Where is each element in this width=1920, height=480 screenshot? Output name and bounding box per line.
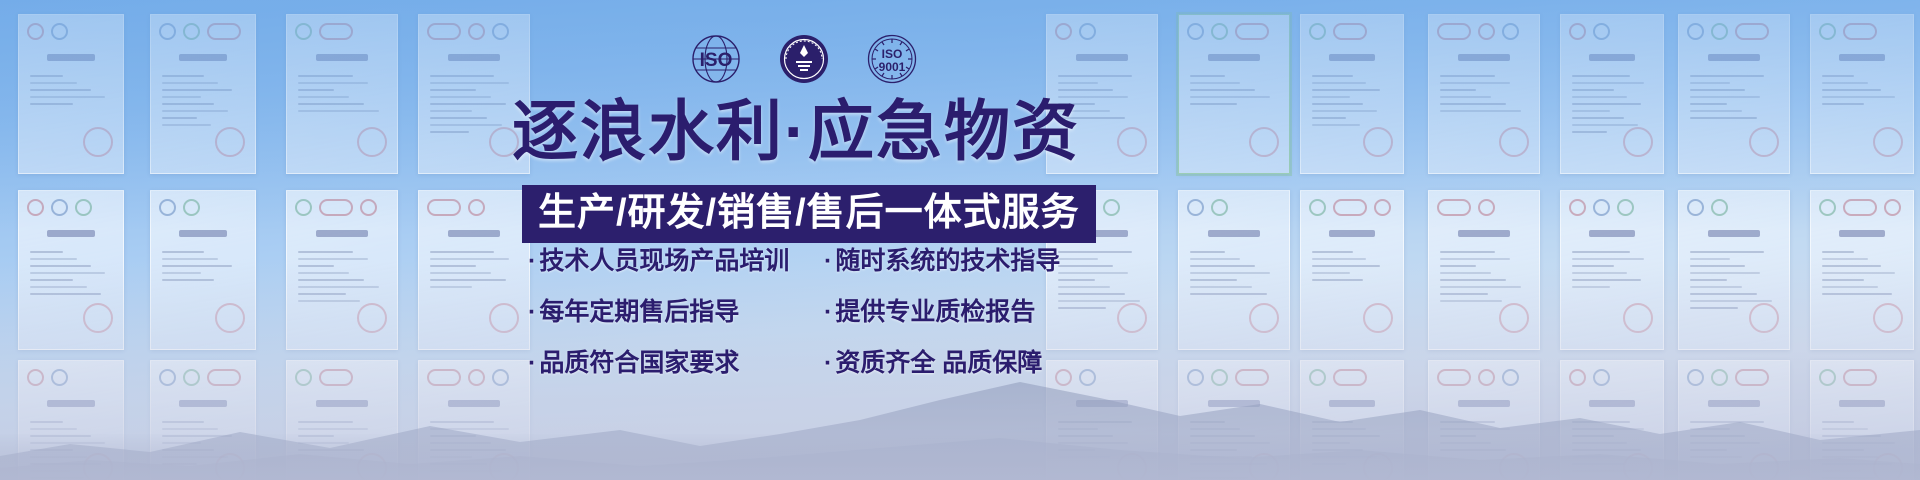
banner-headline: 逐浪水利·应急物资 — [512, 98, 1080, 164]
feature-item: ·提供专业质检报告 — [824, 297, 1060, 328]
bullet-dot: · — [824, 247, 832, 275]
feature-item: ·品质符合国家要求 — [528, 348, 806, 379]
iso-9001-badge: ISO 9001 — [866, 33, 918, 85]
feature-label: 品质符合国家要求 — [539, 349, 739, 377]
feature-label: 技术人员现场产品培训 — [539, 247, 789, 275]
bullet-dot: · — [528, 349, 536, 377]
certification-badges: ISO — [690, 33, 918, 85]
feature-label: 提供专业质检报告 — [835, 298, 1035, 326]
feature-item: ·资质齐全 品质保障 — [824, 348, 1060, 379]
banner-subtitle: 生产/研发/销售/售后一体式服务 — [538, 194, 1080, 232]
bullet-dot: · — [528, 298, 536, 326]
feature-item: ·随时系统的技术指导 — [824, 246, 1060, 277]
feature-list: ·技术人员现场产品培训·随时系统的技术指导·每年定期售后指导·提供专业质检报告·… — [528, 246, 1060, 379]
bullet-dot: · — [528, 247, 536, 275]
iso-badge: ISO — [690, 33, 742, 85]
feature-label: 随时系统的技术指导 — [835, 247, 1060, 275]
bullet-dot: · — [824, 298, 832, 326]
feature-item: ·每年定期售后指导 — [528, 297, 806, 328]
feature-label: 每年定期售后指导 — [539, 298, 739, 326]
promotional-banner: ISO — [0, 0, 1920, 480]
bullet-dot: · — [824, 349, 832, 377]
feature-item: ·技术人员现场产品培训 — [528, 246, 806, 277]
iso-badge-label: ISO — [700, 50, 733, 71]
quality-seal-badge — [778, 33, 830, 85]
iso-9001-badge-label-bottom: 9001 — [879, 60, 906, 74]
feature-label: 资质齐全 品质保障 — [835, 349, 1042, 377]
iso-9001-badge-label-top: ISO — [882, 47, 903, 61]
banner-subtitle-bar: 生产/研发/销售/售后一体式服务 — [522, 185, 1096, 243]
